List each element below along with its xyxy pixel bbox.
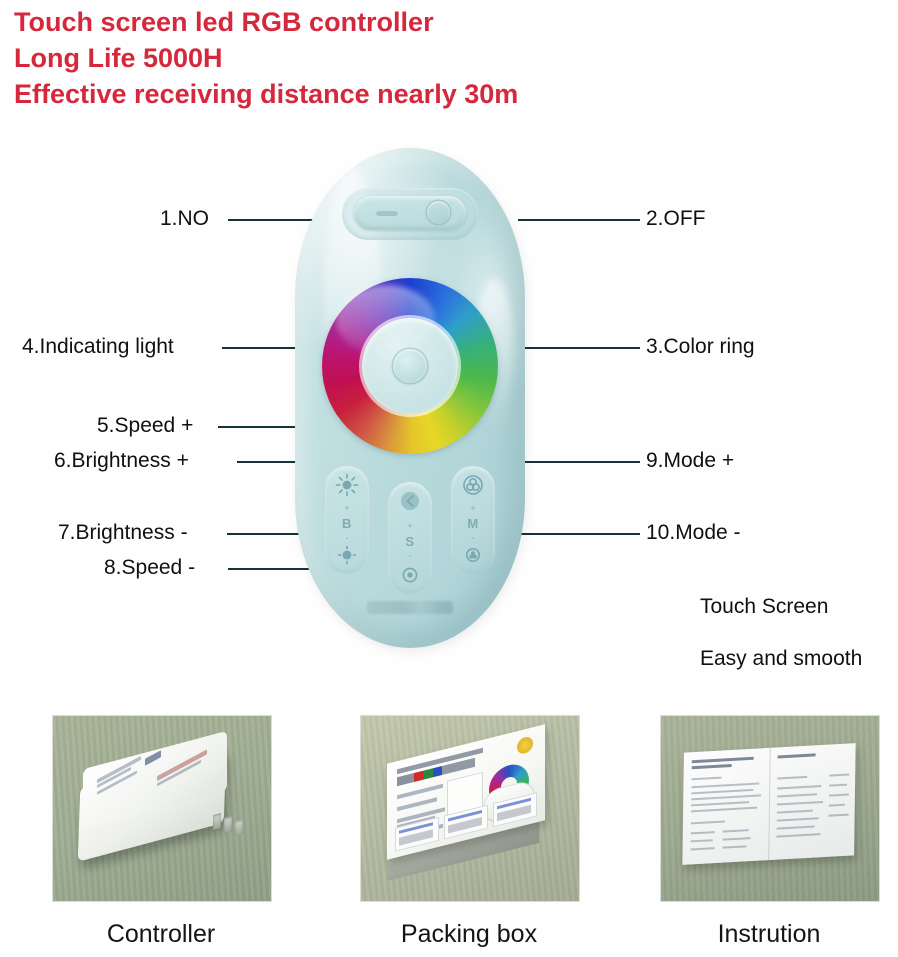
speed-up-button[interactable] [397,488,423,514]
flower-mode-small-icon [460,542,486,568]
speed-down-icon [397,562,423,588]
power-bar [354,196,466,230]
callout-label-9-mode-up: 9.Mode + [646,450,734,472]
gallery-caption-packing-box: Packing box [360,920,578,949]
brightness-key-column: + B - [325,466,369,574]
brightness-down-button[interactable] [334,542,360,568]
callout-label-4-indicating-light: 4.Indicating light [22,336,174,358]
callout-label-3-color-ring: 3.Color ring [646,336,755,358]
callout-diagram: 1.NO 4.Indicating light 5.Speed + 6.Brig… [0,130,898,690]
callout-label-2-off: 2.OFF [646,208,706,230]
tagline-touch-screen: Touch Screen [700,595,828,619]
callout-label-10-mode-down: 10.Mode - [646,522,741,544]
leader-line-9 [520,461,640,463]
mode-key-letter: M [467,516,478,531]
brightness-minus-sign: - [346,534,349,542]
indicating-light[interactable] [393,349,427,383]
gallery-item-packing-box: Packing box [360,715,578,949]
callout-label-7-brightness-down: 7.Brightness - [58,522,188,544]
mode-key-column: + M - [451,466,495,574]
speed-minus-sign: - [409,552,412,560]
brightness-up-button[interactable] [334,472,360,498]
callout-label-5-speed-up: 5.Speed + [97,415,193,437]
headline-line-3: Effective receiving distance nearly 30m [14,76,714,112]
color-ring[interactable] [322,278,498,454]
dim-sun-icon [334,542,360,568]
gallery-caption-controller: Controller [52,920,270,949]
mode-down-button[interactable] [460,542,486,568]
leader-line-3 [506,347,640,349]
speed-key-letter: S [405,534,414,549]
product-headline: Touch screen led RGB controller Long Lif… [14,4,714,112]
gallery-item-controller: Controller [52,715,270,949]
photo-controller [52,715,272,902]
mode-up-button[interactable] [460,472,486,498]
speed-up-icon [397,488,423,514]
remote-brand-mark [367,601,453,614]
gallery-caption-instruction: Instrution [660,920,878,949]
instruction-sheet [682,743,855,865]
power-on-button[interactable] [376,210,398,216]
callout-label-6-brightness-up: 6.Brightness + [54,450,189,472]
photo-instruction [660,715,880,902]
sheet-center-fold [768,748,771,860]
mode-plus-sign: + [470,504,475,512]
tagline-easy-and-smooth: Easy and smooth [700,647,862,671]
brightness-plus-sign: + [344,504,349,512]
callout-label-8-speed-down: 8.Speed - [104,557,195,579]
leader-line-10 [518,533,640,535]
headline-line-2: Long Life 5000H [14,40,714,76]
headline-line-1: Touch screen led RGB controller [14,4,714,40]
product-photo-strip: Controller Pa [0,690,898,957]
power-off-button[interactable] [427,201,450,224]
leader-line-2 [518,219,640,221]
speed-down-button[interactable] [397,562,423,588]
mode-minus-sign: - [472,534,475,542]
flower-mode-icon [460,472,486,498]
photo-packing-box [360,715,580,902]
brightness-key-letter: B [342,516,352,531]
callout-label-1-no: 1.NO [160,208,209,230]
sun-badge-icon [517,735,533,755]
rgb-remote-control: + B - [295,148,525,648]
speed-key-column: + S - [388,482,432,594]
speed-plus-sign: + [407,522,412,530]
gallery-item-instruction: Instrution [660,715,878,949]
sun-icon [334,472,360,498]
